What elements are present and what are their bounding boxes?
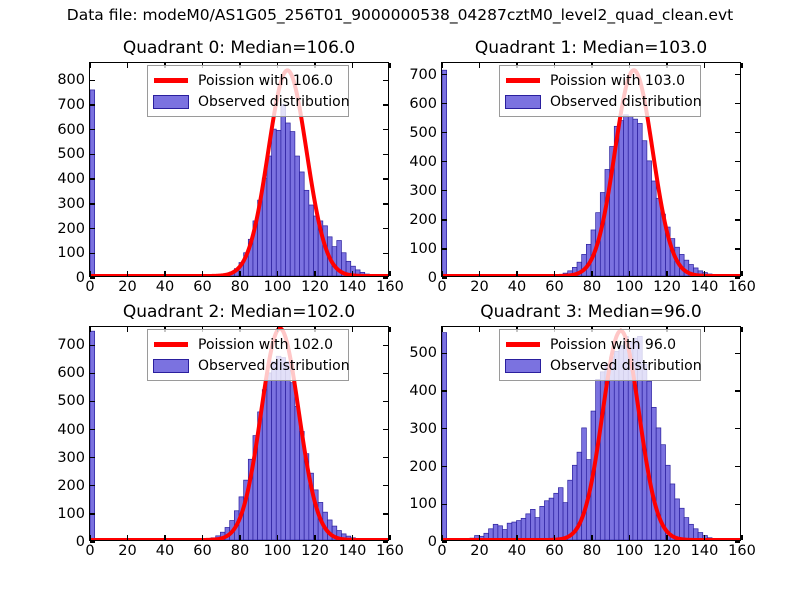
x-tick-mark <box>127 535 128 540</box>
x-tick-label: 120 <box>301 543 329 559</box>
x-tick-label: 20 <box>118 543 136 559</box>
legend-entry-poisson: Poission with 106.0 <box>153 70 342 91</box>
x-tick-mark <box>89 535 90 540</box>
y-tick-label: 100 <box>409 496 437 512</box>
x-tick-mark <box>239 271 240 276</box>
y-tick-label: 400 <box>409 383 437 399</box>
legend-label-poisson: Poission with 106.0 <box>198 73 333 89</box>
x-tick-label: 0 <box>85 543 94 559</box>
subplot-quadrant-0: Quadrant 0: Median=106.0 010020030040050… <box>89 62 389 277</box>
x-tick-label: 120 <box>301 279 329 295</box>
legend-quadrant-3: Poission with 96.0 Observed distribution <box>499 329 701 381</box>
y-tick-label: 600 <box>409 96 437 112</box>
y-tick-mark <box>735 428 740 429</box>
y-tick-mark <box>90 345 95 346</box>
x-tick-mark <box>127 271 128 276</box>
y-tick-mark <box>442 74 447 75</box>
legend-patch-icon <box>505 95 541 109</box>
legend-entry-poisson: Poission with 102.0 <box>153 334 342 355</box>
x-tick-mark <box>352 271 353 276</box>
x-tick-label: 140 <box>691 543 719 559</box>
y-tick-mark <box>90 485 95 486</box>
legend-label-observed: Observed distribution <box>550 94 702 110</box>
x-tick-mark <box>352 63 353 68</box>
x-tick-mark <box>516 271 517 276</box>
subplot-title-quadrant-3: Quadrant 3: Median=96.0 <box>441 301 741 323</box>
x-tick-mark <box>741 63 742 68</box>
x-tick-label: 140 <box>339 279 367 295</box>
legend-line-icon <box>505 337 541 352</box>
y-tick-mark <box>442 219 447 220</box>
x-tick-mark <box>741 271 742 276</box>
y-tick-label: 800 <box>57 72 85 88</box>
x-tick-mark <box>89 271 90 276</box>
x-tick-mark <box>89 327 90 332</box>
y-tick-mark <box>90 253 95 254</box>
y-tick-mark <box>383 178 388 179</box>
y-tick-mark <box>90 457 95 458</box>
x-tick-mark <box>704 327 705 332</box>
y-tick-mark <box>90 178 95 179</box>
y-tick-mark <box>383 513 388 514</box>
y-tick-mark <box>735 466 740 467</box>
y-tick-mark <box>442 132 447 133</box>
y-tick-label: 500 <box>409 125 437 141</box>
legend-patch-icon <box>153 95 189 109</box>
x-tick-mark <box>704 63 705 68</box>
x-tick-mark <box>89 63 90 68</box>
x-tick-mark <box>202 271 203 276</box>
legend-entry-poisson: Poission with 103.0 <box>505 70 694 91</box>
x-tick-label: 100 <box>264 279 292 295</box>
x-tick-mark <box>127 63 128 68</box>
x-tick-label: 60 <box>193 543 211 559</box>
y-tick-mark <box>442 161 447 162</box>
y-tick-label: 700 <box>57 337 85 353</box>
y-tick-mark <box>383 429 388 430</box>
y-tick-mark <box>90 154 95 155</box>
x-tick-mark <box>666 271 667 276</box>
x-tick-mark <box>479 535 480 540</box>
y-tick-label: 0 <box>76 270 85 286</box>
x-tick-mark <box>441 63 442 68</box>
y-tick-mark <box>735 190 740 191</box>
x-tick-label: 80 <box>583 279 601 295</box>
y-tick-mark <box>442 190 447 191</box>
x-tick-label: 160 <box>728 279 756 295</box>
matplotlib-figure: Data file: modeM0/AS1G05_256T01_90000005… <box>0 0 800 600</box>
y-tick-mark <box>735 219 740 220</box>
y-tick-mark <box>442 504 447 505</box>
x-tick-label: 100 <box>616 279 644 295</box>
x-tick-mark <box>554 535 555 540</box>
y-tick-mark <box>90 513 95 514</box>
x-tick-label: 20 <box>470 543 488 559</box>
y-tick-mark <box>383 457 388 458</box>
y-tick-label: 100 <box>409 241 437 257</box>
x-tick-mark <box>554 271 555 276</box>
x-tick-mark <box>479 271 480 276</box>
subplot-title-quadrant-0: Quadrant 0: Median=106.0 <box>89 37 389 59</box>
y-tick-label: 200 <box>57 478 85 494</box>
x-tick-label: 40 <box>508 279 526 295</box>
x-tick-mark <box>389 535 390 540</box>
x-tick-mark <box>741 535 742 540</box>
x-tick-mark <box>441 271 442 276</box>
x-tick-mark <box>352 327 353 332</box>
y-tick-label: 400 <box>409 154 437 170</box>
subplot-title-quadrant-1: Quadrant 1: Median=103.0 <box>441 37 741 59</box>
legend-entry-observed: Observed distribution <box>505 91 694 112</box>
y-tick-mark <box>383 80 388 81</box>
y-tick-mark <box>442 428 447 429</box>
x-tick-label: 20 <box>118 279 136 295</box>
x-tick-mark <box>441 327 442 332</box>
y-tick-label: 500 <box>409 345 437 361</box>
x-tick-mark <box>239 535 240 540</box>
y-tick-label: 500 <box>57 146 85 162</box>
y-tick-mark <box>383 253 388 254</box>
y-tick-mark <box>383 373 388 374</box>
y-tick-label: 0 <box>428 270 437 286</box>
y-tick-label: 400 <box>57 171 85 187</box>
x-tick-label: 60 <box>193 279 211 295</box>
legend-label-poisson: Poission with 103.0 <box>550 73 685 89</box>
y-tick-mark <box>90 401 95 402</box>
x-tick-mark <box>277 535 278 540</box>
x-tick-label: 20 <box>470 279 488 295</box>
x-tick-label: 100 <box>616 543 644 559</box>
y-tick-mark <box>442 390 447 391</box>
y-tick-mark <box>735 390 740 391</box>
y-tick-mark <box>90 203 95 204</box>
x-tick-mark <box>202 535 203 540</box>
x-tick-mark <box>389 327 390 332</box>
legend-label-observed: Observed distribution <box>198 358 350 374</box>
legend-patch-icon <box>505 359 541 373</box>
y-tick-mark <box>383 345 388 346</box>
x-tick-label: 0 <box>437 279 446 295</box>
x-tick-label: 120 <box>653 543 681 559</box>
y-tick-mark <box>383 485 388 486</box>
y-tick-mark <box>90 129 95 130</box>
x-tick-mark <box>164 271 165 276</box>
legend-entry-observed: Observed distribution <box>153 91 342 112</box>
y-tick-mark <box>383 203 388 204</box>
x-tick-label: 160 <box>728 543 756 559</box>
y-tick-mark <box>383 154 388 155</box>
x-tick-mark <box>352 535 353 540</box>
y-tick-label: 300 <box>57 450 85 466</box>
x-tick-label: 0 <box>437 543 446 559</box>
x-tick-label: 80 <box>231 279 249 295</box>
x-tick-mark <box>629 535 630 540</box>
y-tick-mark <box>383 104 388 105</box>
x-tick-label: 40 <box>508 543 526 559</box>
x-tick-mark <box>277 271 278 276</box>
legend-label-poisson: Poission with 102.0 <box>198 337 333 353</box>
x-tick-mark <box>741 327 742 332</box>
x-tick-label: 40 <box>156 279 174 295</box>
legend-entry-observed: Observed distribution <box>505 355 694 376</box>
y-tick-label: 100 <box>57 506 85 522</box>
legend-label-observed: Observed distribution <box>198 94 350 110</box>
y-tick-mark <box>735 74 740 75</box>
y-tick-mark <box>735 161 740 162</box>
y-tick-mark <box>90 228 95 229</box>
y-tick-label: 0 <box>428 534 437 550</box>
x-tick-mark <box>591 271 592 276</box>
x-tick-label: 60 <box>545 543 563 559</box>
subplot-quadrant-2: Quadrant 2: Median=102.0 010020030040050… <box>89 326 389 541</box>
y-tick-mark <box>735 504 740 505</box>
x-tick-mark <box>479 63 480 68</box>
x-tick-mark <box>666 535 667 540</box>
y-tick-label: 300 <box>409 183 437 199</box>
subplot-quadrant-1: Quadrant 1: Median=103.0 010020030040050… <box>441 62 741 277</box>
x-tick-label: 40 <box>156 543 174 559</box>
y-tick-mark <box>90 373 95 374</box>
y-tick-label: 700 <box>57 97 85 113</box>
x-tick-label: 120 <box>653 279 681 295</box>
x-tick-mark <box>314 535 315 540</box>
x-tick-mark <box>314 271 315 276</box>
x-tick-label: 100 <box>264 543 292 559</box>
x-tick-label: 160 <box>376 543 404 559</box>
x-tick-mark <box>591 535 592 540</box>
y-tick-mark <box>383 228 388 229</box>
x-tick-label: 0 <box>85 279 94 295</box>
legend-label-observed: Observed distribution <box>550 358 702 374</box>
legend-quadrant-2: Poission with 102.0 Observed distributio… <box>147 329 349 381</box>
legend-entry-observed: Observed distribution <box>153 355 342 376</box>
x-tick-mark <box>516 535 517 540</box>
x-tick-label: 80 <box>231 543 249 559</box>
figure-suptitle: Data file: modeM0/AS1G05_256T01_90000005… <box>0 5 800 25</box>
x-tick-mark <box>441 535 442 540</box>
y-tick-label: 200 <box>409 459 437 475</box>
y-tick-label: 200 <box>57 221 85 237</box>
y-tick-mark <box>90 104 95 105</box>
y-tick-label: 100 <box>57 245 85 261</box>
subplot-title-quadrant-2: Quadrant 2: Median=102.0 <box>89 301 389 323</box>
x-tick-mark <box>127 327 128 332</box>
x-tick-mark <box>704 535 705 540</box>
x-tick-mark <box>629 271 630 276</box>
y-tick-mark <box>383 401 388 402</box>
y-tick-mark <box>90 80 95 81</box>
legend-line-icon <box>505 73 541 88</box>
legend-label-poisson: Poission with 96.0 <box>550 337 676 353</box>
y-tick-label: 600 <box>57 365 85 381</box>
y-tick-label: 0 <box>76 534 85 550</box>
x-tick-mark <box>389 63 390 68</box>
x-tick-label: 140 <box>339 543 367 559</box>
x-tick-mark <box>389 271 390 276</box>
x-tick-mark <box>164 535 165 540</box>
x-tick-mark <box>704 271 705 276</box>
y-tick-label: 300 <box>409 421 437 437</box>
legend-quadrant-1: Poission with 103.0 Observed distributio… <box>499 65 701 117</box>
x-tick-mark <box>479 327 480 332</box>
y-tick-mark <box>442 248 447 249</box>
y-tick-mark <box>735 103 740 104</box>
x-tick-label: 80 <box>583 543 601 559</box>
y-tick-mark <box>735 353 740 354</box>
y-tick-mark <box>735 132 740 133</box>
x-tick-label: 140 <box>691 279 719 295</box>
y-tick-mark <box>442 466 447 467</box>
y-tick-label: 200 <box>409 212 437 228</box>
legend-patch-icon <box>153 359 189 373</box>
legend-line-icon <box>153 73 189 88</box>
y-tick-label: 300 <box>57 196 85 212</box>
legend-entry-poisson: Poission with 96.0 <box>505 334 694 355</box>
y-tick-mark <box>442 353 447 354</box>
y-tick-mark <box>383 129 388 130</box>
subplot-quadrant-3: Quadrant 3: Median=96.0 0100200300400500… <box>441 326 741 541</box>
y-tick-label: 600 <box>57 122 85 138</box>
legend-line-icon <box>153 337 189 352</box>
y-tick-label: 700 <box>409 67 437 83</box>
y-tick-label: 400 <box>57 422 85 438</box>
y-tick-mark <box>735 248 740 249</box>
y-tick-mark <box>442 103 447 104</box>
x-tick-label: 160 <box>376 279 404 295</box>
y-tick-mark <box>90 429 95 430</box>
legend-quadrant-0: Poission with 106.0 Observed distributio… <box>147 65 349 117</box>
x-tick-label: 60 <box>545 279 563 295</box>
y-tick-label: 500 <box>57 393 85 409</box>
